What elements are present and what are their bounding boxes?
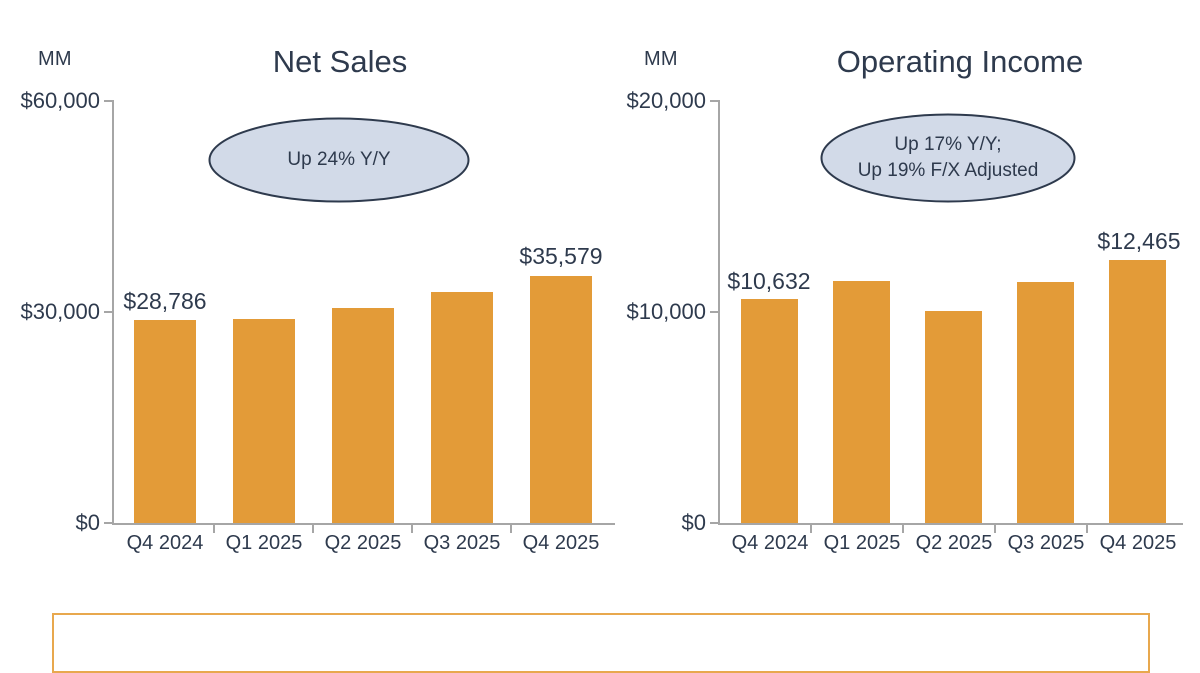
bar-operating-income-q2-2025[interactable]: [925, 311, 982, 523]
bar-operating-income-q4-2024[interactable]: [741, 299, 798, 523]
bar-value-label-operating-income-q4-2024: $10,632: [709, 268, 829, 295]
chart-title-net-sales: Net Sales: [140, 44, 540, 80]
y-tick-mark-operating-income-20000: [710, 100, 718, 102]
bar-operating-income-q3-2025[interactable]: [1017, 282, 1074, 523]
chart-panel-operating-income: MM Operating Income $20,000 $10,000 $0 $…: [610, 0, 1200, 628]
footer-highlight-box: [52, 613, 1150, 673]
callout-operating-income: Up 17% Y/Y; Up 19% F/X Adjusted: [820, 113, 1076, 203]
bar-net-sales-q1-2025[interactable]: [233, 319, 295, 523]
y-tick-label-net-sales-0: $60,000: [0, 88, 100, 114]
slide-canvas: MM Net Sales $60,000 $30,000 $0 $28,786 …: [0, 0, 1200, 628]
chart-panel-net-sales: MM Net Sales $60,000 $30,000 $0 $28,786 …: [0, 0, 620, 628]
y-tick-label-operating-income-1: $10,000: [606, 299, 706, 325]
y-tick-mark-operating-income-0: [710, 522, 718, 524]
bar-value-label-net-sales-q4-2025: $35,579: [501, 243, 621, 270]
x-tick-label-operating-income-q4-2025: Q4 2025: [1078, 532, 1198, 555]
callout-net-sales: Up 24% Y/Y: [208, 117, 470, 203]
y-tick-mark-operating-income-10000: [710, 311, 718, 313]
callout-ellipse-icon: [208, 117, 470, 203]
y-axis-line-operating-income: [718, 100, 720, 525]
bar-value-label-operating-income-q4-2025: $12,465: [1079, 228, 1199, 255]
bar-operating-income-q1-2025[interactable]: [833, 281, 890, 523]
x-axis-line-net-sales: [112, 523, 615, 525]
unit-label-net-sales: MM: [38, 48, 72, 71]
x-axis-line-operating-income: [718, 523, 1183, 525]
bar-net-sales-q4-2025[interactable]: [530, 276, 592, 523]
bar-net-sales-q4-2024[interactable]: [134, 320, 196, 523]
chart-title-operating-income: Operating Income: [740, 44, 1180, 80]
y-tick-label-operating-income-2: $0: [606, 510, 706, 536]
y-tick-label-net-sales-2: $0: [0, 510, 100, 536]
bar-net-sales-q2-2025[interactable]: [332, 308, 394, 523]
y-tick-label-operating-income-0: $20,000: [606, 88, 706, 114]
y-tick-mark-net-sales-0: [104, 522, 112, 524]
y-tick-label-net-sales-1: $30,000: [0, 299, 100, 325]
y-tick-mark-net-sales-60000: [104, 100, 112, 102]
callout-ellipse-icon: [820, 113, 1076, 203]
x-tick-label-net-sales-q4-2025: Q4 2025: [501, 532, 621, 555]
bar-value-label-net-sales-q4-2024: $28,786: [105, 288, 225, 315]
bar-net-sales-q3-2025[interactable]: [431, 292, 493, 523]
bar-operating-income-q4-2025[interactable]: [1109, 260, 1166, 523]
unit-label-operating-income: MM: [644, 48, 678, 71]
